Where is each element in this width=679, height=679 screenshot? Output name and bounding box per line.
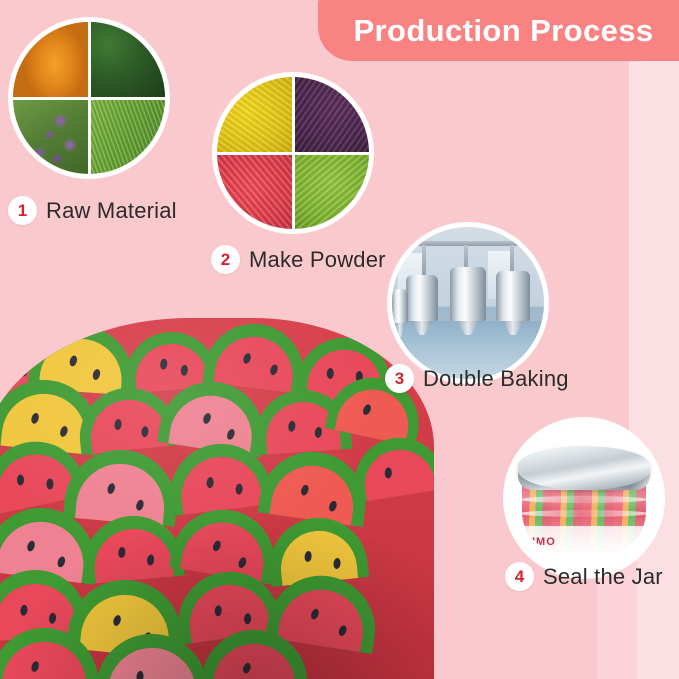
double-baking-photo (392, 227, 544, 379)
step-number-badge: 4 (505, 562, 534, 591)
kale-quadrant (89, 22, 165, 98)
yellow-powder-quadrant (217, 77, 293, 153)
title-banner: Production Process (318, 0, 679, 61)
ceiling-pipe (392, 241, 544, 246)
step-4-seal-the-jar: 4 Seal the Jar (505, 562, 663, 591)
make-powder-photo (217, 77, 369, 229)
steel-tank (392, 289, 408, 323)
watermelon-treats-pile (0, 318, 434, 679)
green-powder-quadrant (293, 153, 369, 229)
watermelon-slice (63, 445, 181, 526)
infographic-canvas: Production Process (0, 0, 679, 679)
pumpkin-quadrant (13, 22, 89, 98)
jar-foil-seal-lid (518, 446, 650, 490)
seal-the-jar-photo: IMO (508, 422, 660, 574)
step-label: Raw Material (46, 198, 177, 224)
watermelon-slice (348, 431, 434, 502)
alfalfa-quadrant (13, 98, 89, 174)
page-title: Production Process (343, 13, 653, 49)
quadrant-divider-horizontal (217, 152, 369, 155)
step-number-badge: 2 (211, 245, 240, 274)
quadrant-divider-horizontal (13, 97, 165, 100)
steel-tank (450, 267, 486, 321)
step-number-badge: 1 (8, 196, 37, 225)
factory-scene (392, 227, 544, 379)
jar-label-text: IMO (532, 536, 556, 548)
step-label: Double Baking (423, 366, 569, 392)
purple-powder-quadrant (293, 77, 369, 153)
grass-quadrant (89, 98, 165, 174)
red-powder-quadrant (217, 153, 293, 229)
jar-thread-ring (520, 496, 648, 503)
step-1-raw-material: 1 Raw Material (8, 196, 177, 225)
step-label: Make Powder (249, 247, 386, 273)
step-label: Seal the Jar (543, 564, 663, 590)
raw-material-photo (13, 22, 165, 174)
step-3-double-baking: 3 Double Baking (385, 364, 569, 393)
step-number-badge: 3 (385, 364, 414, 393)
steel-tank (406, 275, 438, 321)
jar-thread-ring (520, 510, 648, 517)
steel-tank (496, 271, 530, 321)
step-2-make-powder: 2 Make Powder (211, 245, 386, 274)
